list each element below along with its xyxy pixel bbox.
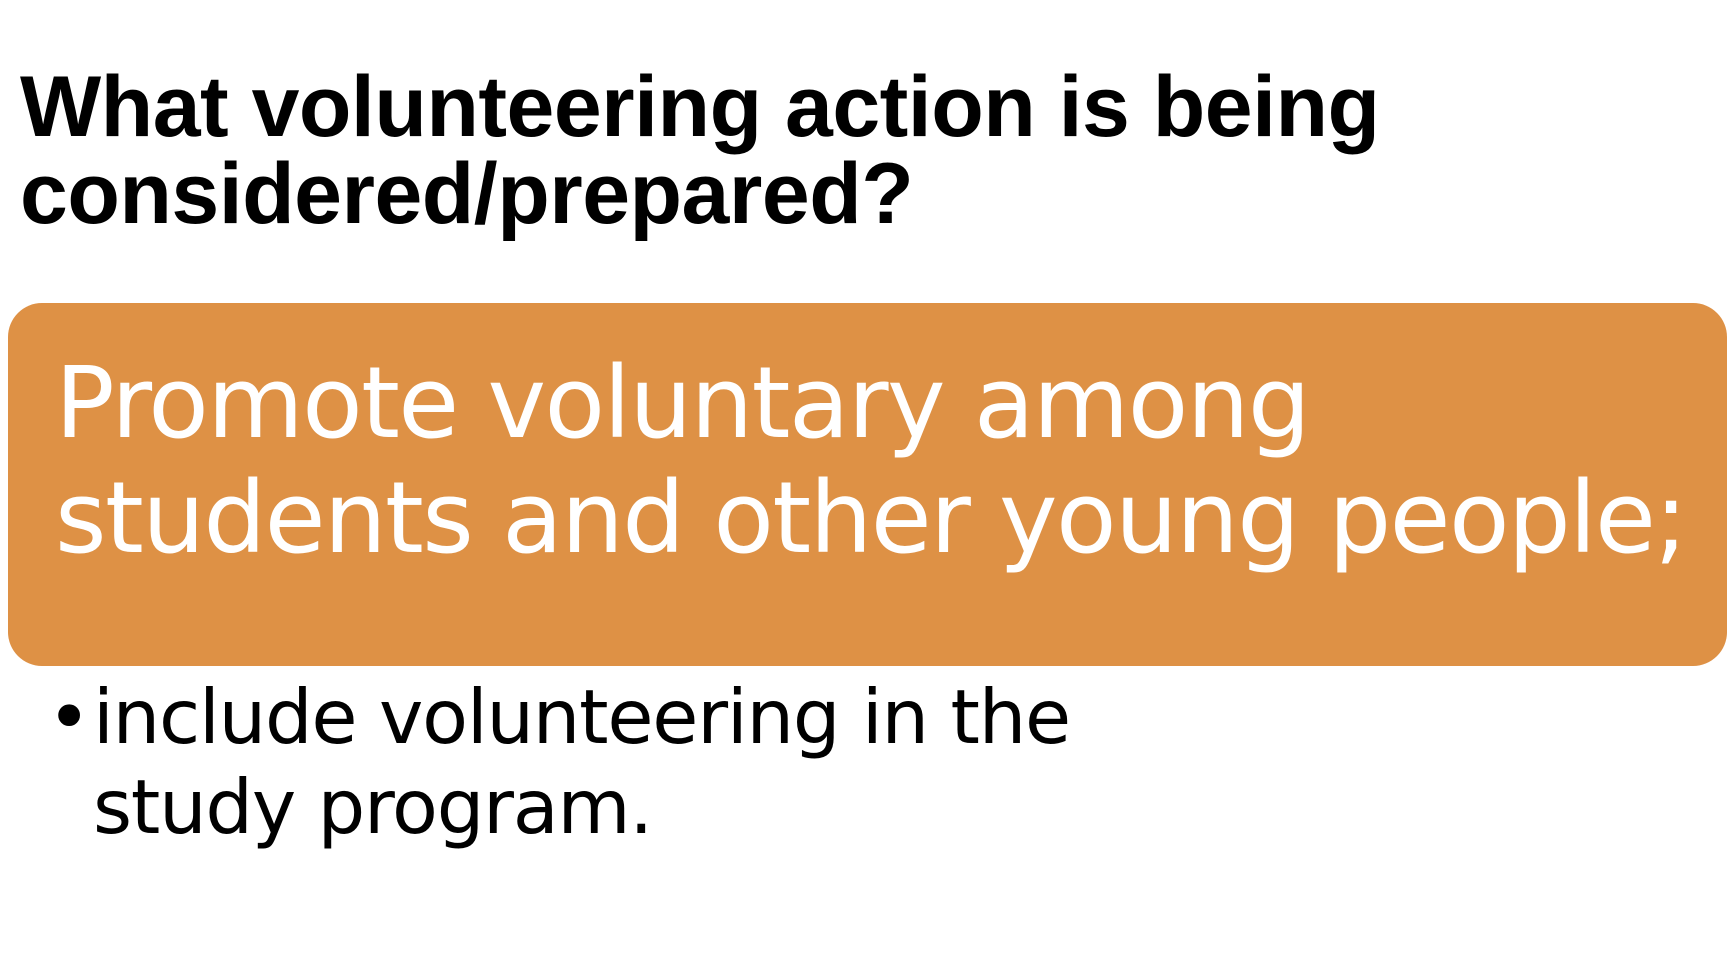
bullet-list: • include volunteering in the study prog… bbox=[47, 672, 1547, 852]
slide-canvas: What volunteering action is being consid… bbox=[0, 0, 1729, 956]
highlight-callout-text: Promote voluntary among students and oth… bbox=[55, 346, 1715, 576]
bullet-point-icon: • bbox=[47, 672, 93, 762]
highlight-callout-box: Promote voluntary among students and oth… bbox=[8, 303, 1727, 666]
list-item: • include volunteering in the study prog… bbox=[47, 672, 1547, 852]
list-item-label: include volunteering in the study progra… bbox=[93, 672, 1253, 852]
page-title: What volunteering action is being consid… bbox=[20, 64, 1420, 238]
